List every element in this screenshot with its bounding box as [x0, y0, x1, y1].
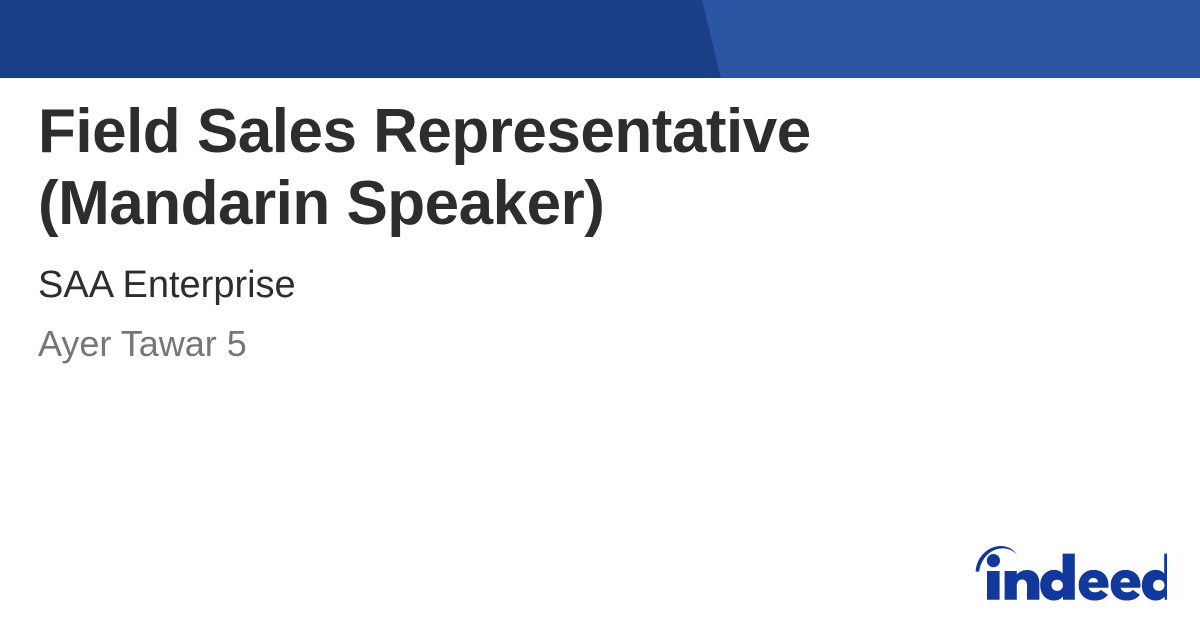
indeed-logo-icon: [971, 540, 1167, 602]
job-summary: Field Sales Representative (Mandarin Spe…: [38, 96, 1038, 366]
indeed-letter-e1: [1079, 570, 1109, 601]
indeed-letter-d2: [1142, 554, 1167, 601]
indeed-letter-d1: [1040, 554, 1075, 601]
indeed-logo: [971, 540, 1167, 602]
job-share-card: Field Sales Representative (Mandarin Spe…: [0, 0, 1200, 630]
banner-left-fill: [0, 0, 721, 78]
indeed-letter-e2: [1111, 570, 1141, 601]
indeed-i-dot: [987, 554, 1000, 567]
job-location: Ayer Tawar 5: [38, 308, 1038, 366]
company-name: SAA Enterprise: [38, 240, 1038, 308]
indeed-letter-i: [987, 571, 1000, 600]
page-title: Field Sales Representative (Mandarin Spe…: [38, 96, 868, 240]
header-banner-shape: [0, 0, 1200, 78]
indeed-letter-n: [1005, 570, 1040, 600]
header-banner: [0, 0, 1200, 78]
